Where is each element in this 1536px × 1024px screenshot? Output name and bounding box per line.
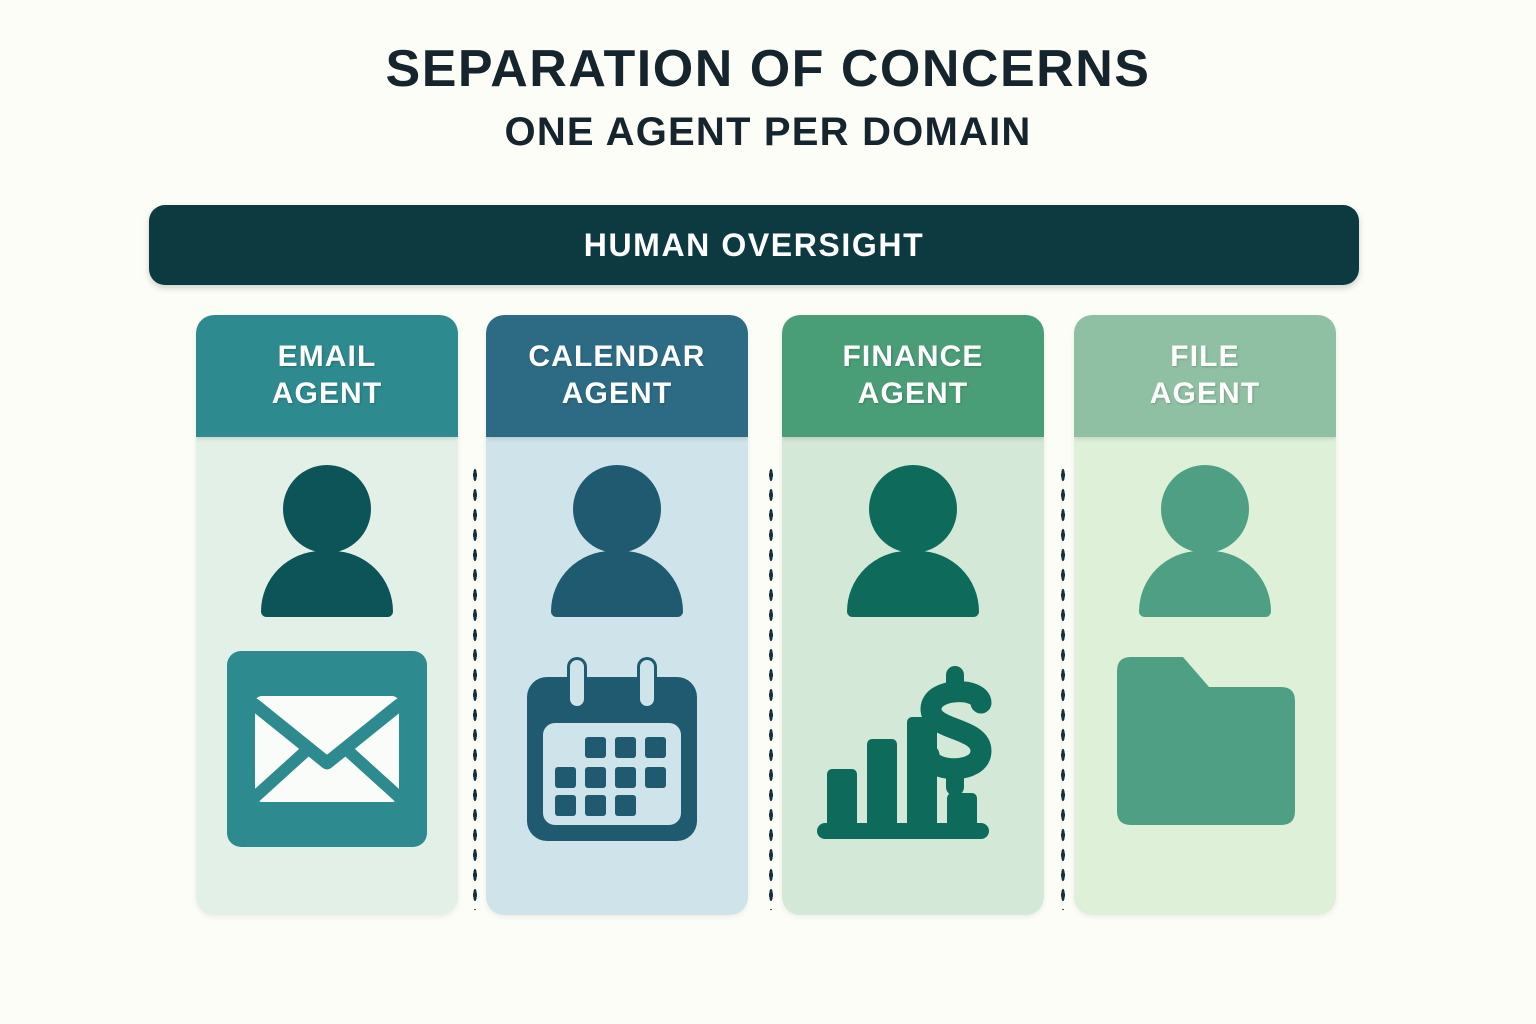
agent-card-body [1074, 437, 1336, 915]
calendar-icon [517, 651, 717, 851]
agent-card-finance[interactable]: FINANCE AGENT [782, 315, 1044, 915]
person-head [573, 465, 661, 553]
agent-name-line1: CALENDAR [528, 339, 705, 376]
folder-icon [1105, 651, 1305, 851]
agent-card-file[interactable]: FILE AGENT [1074, 315, 1336, 915]
column-separator-dotted [472, 465, 478, 910]
agent-name-line2: AGENT [272, 376, 383, 413]
folder-glyph [1105, 651, 1305, 831]
person-shoulders [261, 551, 393, 617]
bar-chart-dollar-glyph [813, 651, 1013, 851]
agent-person-icon [261, 465, 393, 617]
person-head [869, 465, 957, 553]
human-oversight-bar: HUMAN OVERSIGHT [149, 205, 1359, 285]
agent-name-line1: FILE [1170, 339, 1239, 376]
human-oversight-label: HUMAN OVERSIGHT [584, 227, 924, 264]
agent-card-header: EMAIL AGENT [196, 315, 458, 437]
envelope-glyph [252, 693, 402, 805]
agent-card-header: FINANCE AGENT [782, 315, 1044, 437]
agent-card-header: CALENDAR AGENT [486, 315, 748, 437]
column-separator-dotted [768, 465, 774, 910]
agent-card-body [486, 437, 748, 915]
agent-card-body [196, 437, 458, 915]
person-shoulders [551, 551, 683, 617]
person-shoulders [847, 551, 979, 617]
person-head [1161, 465, 1249, 553]
agent-name-line2: AGENT [1150, 376, 1261, 413]
agent-columns: EMAIL AGENT CALENDAR [196, 315, 1336, 915]
agent-person-icon [551, 465, 683, 617]
agent-name-line2: AGENT [858, 376, 969, 413]
column-separator-dotted [1060, 465, 1066, 910]
page-subtitle: ONE AGENT PER DOMAIN [0, 111, 1536, 153]
agent-name-line2: AGENT [562, 376, 673, 413]
agent-card-body [782, 437, 1044, 915]
agent-card-email[interactable]: EMAIL AGENT [196, 315, 458, 915]
agent-person-icon [847, 465, 979, 617]
agent-person-icon [1139, 465, 1271, 617]
person-shoulders [1139, 551, 1271, 617]
title-block: SEPARATION OF CONCERNS ONE AGENT PER DOM… [0, 42, 1536, 153]
agent-name-line1: FINANCE [842, 339, 983, 376]
calendar-glyph [517, 651, 707, 851]
agent-card-header: FILE AGENT [1074, 315, 1336, 437]
envelope-tile [227, 651, 427, 847]
page-title: SEPARATION OF CONCERNS [0, 42, 1536, 97]
person-head [283, 465, 371, 553]
envelope-icon [227, 651, 427, 851]
agent-card-calendar[interactable]: CALENDAR AGENT [486, 315, 748, 915]
bar-chart-dollar-icon [813, 651, 1013, 851]
agent-name-line1: EMAIL [278, 339, 377, 376]
